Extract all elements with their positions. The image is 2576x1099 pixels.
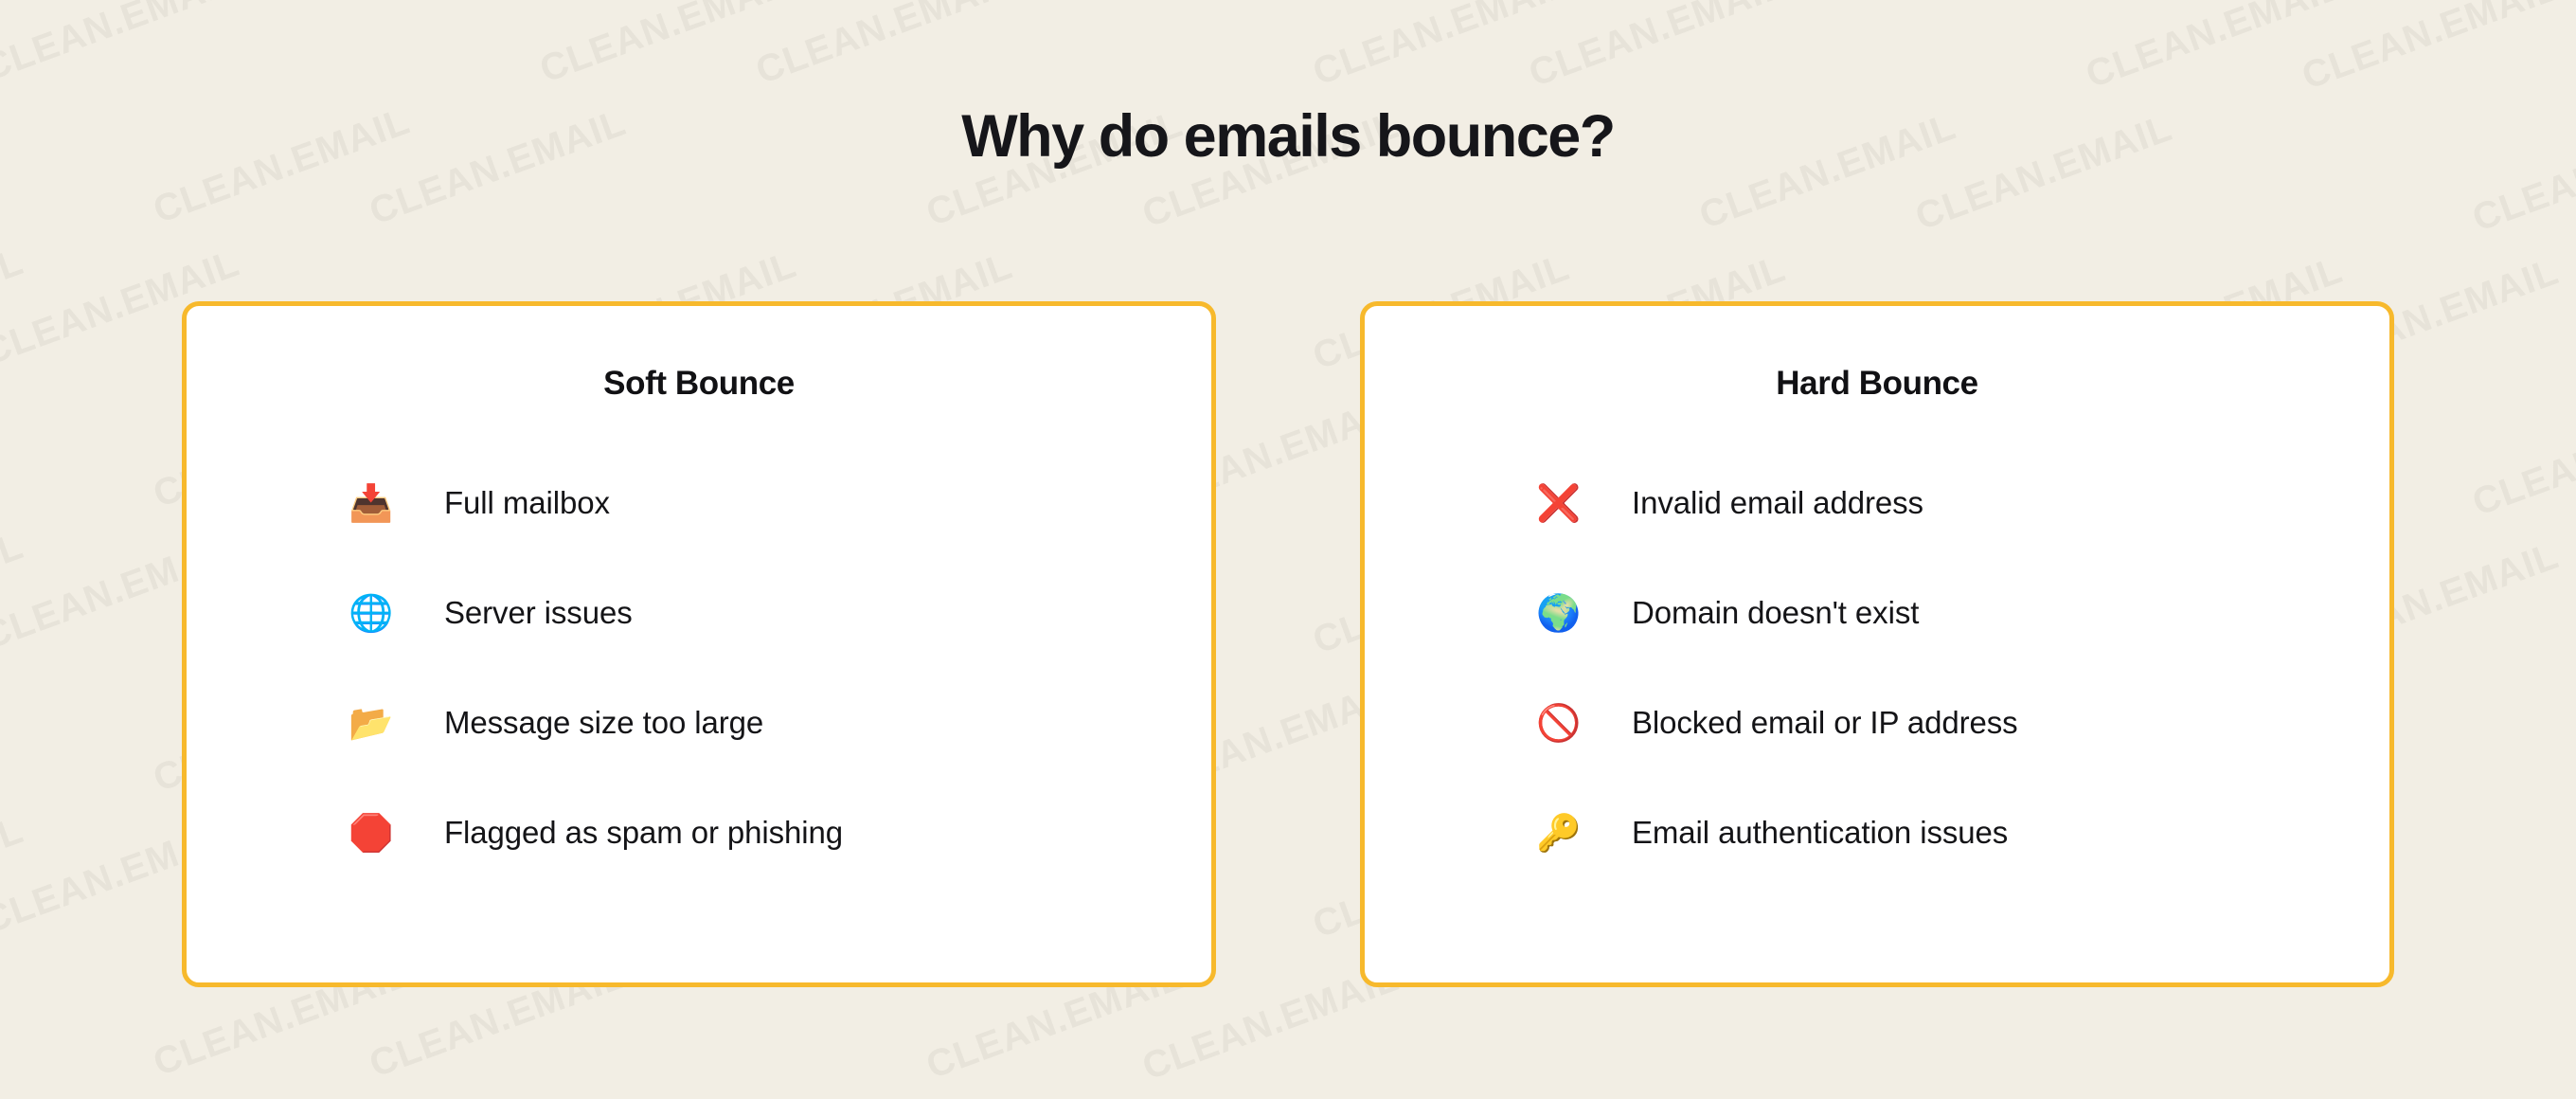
inbox-tray-icon: 📥 — [346, 485, 397, 521]
page-title: Why do emails bounce? — [0, 102, 2576, 171]
soft-bounce-card-title: Soft Bounce — [187, 365, 1211, 403]
list-item: 📂Message size too large — [346, 668, 1211, 778]
hard-bounce-card: Hard Bounce ❌Invalid email address🌍Domai… — [1360, 301, 2394, 987]
list-item-label: Full mailbox — [444, 485, 610, 521]
globe-europe-africa-icon: 🌍 — [1533, 595, 1584, 631]
watermark-text: CLEAN.EMAIL — [2467, 392, 2576, 525]
bounce-type-cards: Soft Bounce 📥Full mailbox🌐Server issues📂… — [182, 301, 2394, 987]
soft-bounce-reason-list: 📥Full mailbox🌐Server issues📂Message size… — [187, 448, 1211, 888]
list-item-label: Flagged as spam or phishing — [444, 815, 843, 851]
soft-bounce-card: Soft Bounce 📥Full mailbox🌐Server issues📂… — [182, 301, 1216, 987]
watermark-text: CLEAN.EMAIL — [0, 525, 29, 658]
watermark-text: CLEAN.EMAIL — [1524, 0, 1792, 96]
watermark-text: CLEAN.EMAIL — [0, 1095, 245, 1099]
list-item: 🚫Blocked email or IP address — [1533, 668, 2389, 778]
watermark-text: CLEAN.EMAIL — [2297, 0, 2565, 99]
list-item-label: Blocked email or IP address — [1632, 705, 2018, 741]
list-item-label: Message size too large — [444, 705, 763, 741]
watermark-row: CLEAN.EMAILCLEAN.EMAILCLEAN.EMAILCLEAN.E… — [0, 0, 2576, 47]
watermark-text: CLEAN.EMAIL — [0, 0, 29, 89]
list-item: 📥Full mailbox — [346, 448, 1211, 558]
list-item: 🛑Flagged as spam or phishing — [346, 778, 1211, 888]
hard-bounce-reason-list: ❌Invalid email address🌍Domain doesn't ex… — [1365, 448, 2389, 888]
stop-sign-icon: 🛑 — [346, 815, 397, 851]
list-item-label: Server issues — [444, 595, 633, 631]
list-item-label: Email authentication issues — [1632, 815, 2008, 851]
watermark-text: CLEAN.EMAIL — [0, 0, 245, 90]
watermark-text: CLEAN.EMAIL — [0, 1093, 29, 1099]
list-item: 🔑Email authentication issues — [1533, 778, 2389, 888]
watermark-text: CLEAN.EMAIL — [0, 241, 29, 373]
watermark-text: CLEAN.EMAIL — [2081, 0, 2349, 97]
watermark-text: CLEAN.EMAIL — [1308, 0, 1576, 95]
key-icon: 🔑 — [1533, 815, 1584, 851]
list-item: ❌Invalid email address — [1533, 448, 2389, 558]
open-folder-icon: 📂 — [346, 705, 397, 741]
watermark-text: CLEAN.EMAIL — [534, 0, 802, 92]
list-item-label: Invalid email address — [1632, 485, 1923, 521]
hard-bounce-card-title: Hard Bounce — [1365, 365, 2389, 403]
red-cross-mark-icon: ❌ — [1533, 485, 1584, 521]
watermark-text: CLEAN.EMAIL — [0, 809, 29, 942]
list-item: 🌍Domain doesn't exist — [1533, 558, 2389, 668]
watermark-text: CLEAN.EMAIL — [751, 0, 1019, 93]
globe-meridians-icon: 🌐 — [346, 595, 397, 631]
prohibited-icon: 🚫 — [1533, 705, 1584, 741]
list-item-label: Domain doesn't exist — [1632, 595, 1919, 631]
list-item: 🌐Server issues — [346, 558, 1211, 668]
